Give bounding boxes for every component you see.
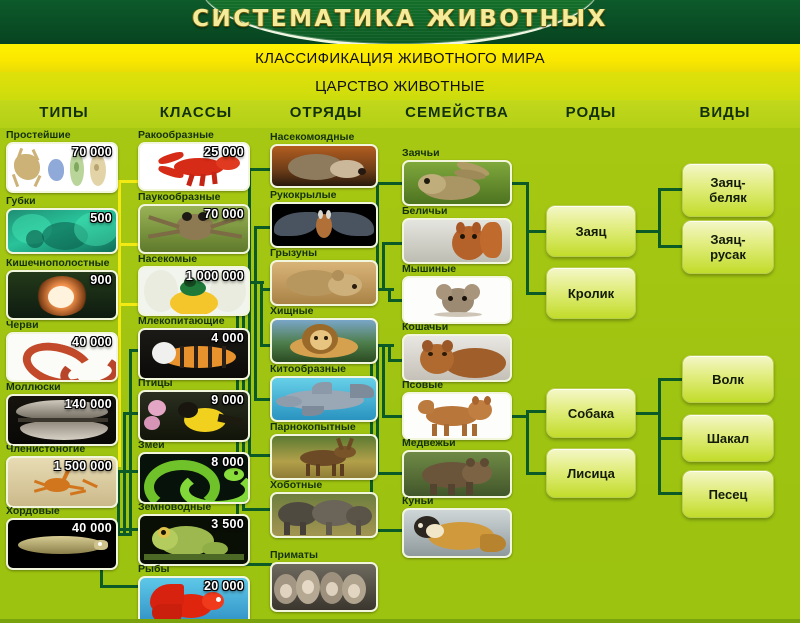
taxon-label-mice: Мышиные — [402, 264, 512, 275]
taxon-card-bears[interactable]: Медвежьи — [402, 438, 512, 498]
taxon-image-crustaceans: 25 000 — [138, 142, 250, 191]
subtitle-classification-band: КЛАССИФИКАЦИЯ ЖИВОТНОГО МИРА — [0, 44, 800, 72]
taxon-image-cats — [402, 334, 512, 382]
genus-box-dog[interactable]: Собака — [546, 388, 636, 438]
connector-families-trunk-carn-b — [382, 344, 385, 418]
connector-orders-trunk-5 — [254, 281, 257, 401]
taxon-label-carnivores: Хищные — [270, 306, 378, 317]
species-box-jackal[interactable]: Шакал — [682, 414, 774, 462]
taxon-label-molluscs: Моллюски — [6, 382, 118, 393]
taxon-label-fish: Рыбы — [138, 564, 250, 575]
taxon-card-crustaceans[interactable]: Ракообразные 25 000 — [138, 130, 250, 191]
taxon-label-sponges: Губки — [6, 196, 118, 207]
taxon-image-snakes: 8 000 — [138, 452, 250, 504]
taxon-count-birds: 9 000 — [211, 393, 244, 407]
taxon-label-bats: Рукокрылые — [270, 190, 378, 201]
taxon-image-primates — [270, 562, 378, 612]
taxon-count-insects: 1 000 000 — [186, 269, 244, 283]
taxon-image-carnivores — [270, 318, 378, 364]
taxon-card-insectivores[interactable]: Насекомоядные — [270, 132, 378, 188]
connector-chordates-to-fish — [100, 585, 143, 588]
genus-box-fox[interactable]: Лисица — [546, 448, 636, 498]
connector-species-jackal — [658, 437, 682, 440]
taxon-label-squirrels: Беличьи — [402, 206, 512, 217]
taxon-card-proboscideans[interactable]: Хоботные — [270, 480, 378, 538]
connector-family-mice — [388, 299, 402, 302]
taxon-image-mammals: 4 000 — [138, 328, 250, 380]
connector-genus-fox-in — [526, 472, 546, 475]
taxon-count-snakes: 8 000 — [211, 455, 244, 469]
connector-family-squirrels — [382, 242, 402, 245]
taxon-count-worms: 40 000 — [72, 335, 112, 349]
taxon-label-bears: Медвежьи — [402, 438, 512, 449]
taxon-card-dogs[interactable]: Псовые — [402, 380, 512, 440]
column-header-genera: РОДЫ — [528, 104, 654, 121]
taxon-count-arthropods: 1 500 000 — [54, 459, 112, 473]
taxon-label-artiodactyls: Парнокопытные — [270, 422, 378, 433]
taxon-count-chordates: 40 000 — [72, 521, 112, 535]
taxon-count-fish: 20 000 — [204, 579, 244, 593]
taxon-card-molluscs[interactable]: Моллюски 140 000 — [6, 382, 118, 446]
poster-bottom-edge — [0, 619, 800, 623]
taxon-label-mammals: Млекопитающие — [138, 316, 250, 327]
taxon-label-cats: Кошачьи — [402, 322, 512, 333]
taxon-count-coelenterates: 900 — [90, 273, 112, 287]
column-header-types: ТИПЫ — [0, 104, 128, 121]
taxon-image-proboscideans — [270, 492, 378, 538]
connector-genus-rabbit-trunk — [526, 182, 529, 295]
taxon-image-squirrels — [402, 218, 512, 264]
connector-family-hares — [376, 182, 402, 185]
taxon-card-sponges[interactable]: Губки 500 — [6, 196, 118, 254]
taxon-label-birds: Птицы — [138, 378, 250, 389]
taxon-image-arthropods: 1 500 000 — [6, 456, 118, 508]
taxon-image-dogs — [402, 392, 512, 440]
taxon-image-birds: 9 000 — [138, 390, 250, 442]
connector-orders-trunk-4 — [260, 281, 263, 347]
taxon-label-crustaceans: Ракообразные — [138, 130, 250, 141]
connector-family-cats — [388, 359, 402, 362]
taxon-image-insectivores — [270, 144, 378, 188]
taxon-label-proboscideans: Хоботные — [270, 480, 378, 491]
connector-genus-dog-in — [526, 410, 546, 413]
taxon-card-cetaceans[interactable]: Китообразные — [270, 364, 378, 422]
taxon-count-protozoa: 70 000 — [72, 145, 112, 159]
taxon-card-rodents[interactable]: Грызуны — [270, 248, 378, 306]
taxon-image-cetaceans — [270, 376, 378, 422]
taxon-card-coelenterates[interactable]: Кишечнополостные 900 — [6, 258, 118, 320]
column-header-species: ВИДЫ — [660, 104, 790, 121]
connector-species-wolf — [658, 378, 682, 381]
taxon-image-mustelids — [402, 508, 512, 558]
taxon-card-artiodactyls[interactable]: Парнокопытные — [270, 422, 378, 480]
connector-order-insectivores — [248, 168, 272, 171]
taxon-image-worms: 40 000 — [6, 332, 118, 382]
connector-genera-dog-trunk — [526, 410, 529, 474]
taxon-image-arachnids: 70 000 — [138, 204, 250, 254]
column-header-families: СЕМЕЙСТВА — [392, 104, 522, 121]
taxon-image-protozoa: 70 000 — [6, 142, 118, 193]
genus-box-hare[interactable]: Заяц — [546, 205, 636, 257]
connector-species-arctic-fox — [658, 492, 682, 495]
taxon-image-bats — [270, 202, 378, 248]
taxon-card-primates[interactable]: Приматы — [270, 550, 378, 612]
genus-box-rabbit[interactable]: Кролик — [546, 267, 636, 319]
taxon-card-birds[interactable]: Птицы 9 000 — [138, 378, 250, 442]
taxon-label-protozoa: Простейшие — [6, 130, 118, 141]
connector-family-dogs — [382, 415, 402, 418]
taxon-label-coelenterates: Кишечнополостные — [6, 258, 118, 269]
connector-species-mountain-hare — [658, 188, 682, 191]
taxon-label-rodents: Грызуны — [270, 248, 378, 259]
taxon-image-fish: 20 000 — [138, 576, 250, 623]
taxon-card-worms[interactable]: Черви 40 000 — [6, 320, 118, 382]
taxon-label-dogs: Псовые — [402, 380, 512, 391]
taxon-card-mammals[interactable]: Млекопитающие 4 000 — [138, 316, 250, 380]
subtitle-classification: КЛАССИФИКАЦИЯ ЖИВОТНОГО МИРА — [255, 50, 545, 67]
taxon-image-sponges: 500 — [6, 208, 118, 254]
connector-families-trunk-rodent-b — [382, 242, 385, 291]
species-box-wolf[interactable]: Волк — [682, 355, 774, 403]
taxon-card-mice[interactable]: Мышиные — [402, 264, 512, 324]
taxon-image-coelenterates: 900 — [6, 270, 118, 320]
species-box-brown-hare[interactable]: Заяц- русак — [682, 220, 774, 274]
taxon-image-chordates: 40 000 — [6, 518, 118, 570]
connector-arthropods-to-crustaceans — [118, 180, 140, 183]
taxon-count-sponges: 500 — [90, 211, 112, 225]
taxon-image-hares — [402, 160, 512, 206]
poster-title: СИСТЕМАТИКА ЖИВОТНЫХ — [0, 6, 800, 32]
connector-arthropods-trunk — [118, 180, 121, 466]
taxon-label-arthropods: Членистоногие — [6, 444, 118, 455]
taxon-card-carnivores[interactable]: Хищные — [270, 306, 378, 364]
taxon-card-fish[interactable]: Рыбы 20 000 — [138, 564, 250, 623]
connector-family-bears — [376, 472, 402, 475]
species-box-arctic-fox[interactable]: Песец — [682, 470, 774, 518]
connector-chordates-trunk-b — [123, 412, 126, 536]
taxon-label-snakes: Змеи — [138, 440, 250, 451]
taxon-label-chordates: Хордовые — [6, 506, 118, 517]
subtitle-kingdom-band: ЦАРСТВО ЖИВОТНЫЕ — [0, 72, 800, 100]
animal-systematics-poster: СИСТЕМАТИКА ЖИВОТНЫХ КЛАССИФИКАЦИЯ ЖИВОТ… — [0, 0, 800, 623]
taxon-card-insects[interactable]: Насекомые 1 000 000 — [138, 254, 250, 316]
taxon-label-primates: Приматы — [270, 550, 378, 561]
taxon-image-rodents — [270, 260, 378, 306]
connector-arthropods-to-insects — [118, 303, 140, 306]
subtitle-kingdom: ЦАРСТВО ЖИВОТНЫЕ — [315, 78, 485, 95]
taxon-label-insects: Насекомые — [138, 254, 250, 265]
taxon-card-snakes[interactable]: Змеи 8 000 — [138, 440, 250, 504]
taxon-card-hares[interactable]: Заячьи — [402, 148, 512, 206]
taxon-count-molluscs: 140 000 — [65, 397, 112, 411]
taxon-image-amphibians: 3 500 — [138, 514, 250, 566]
taxon-card-mustelids[interactable]: Куньи — [402, 496, 512, 558]
taxon-image-mice — [402, 276, 512, 324]
taxon-count-mammals: 4 000 — [211, 331, 244, 345]
column-header-orders: ОТРЯДЫ — [262, 104, 390, 121]
connector-genus-hare-in — [526, 230, 546, 233]
connector-genus-rabbit-in — [526, 292, 546, 295]
connector-arthropods-to-arachnids — [118, 243, 140, 246]
taxon-label-worms: Черви — [6, 320, 118, 331]
taxon-card-amphibians[interactable]: Земноводные 3 500 — [138, 502, 250, 566]
column-header-classes: КЛАССЫ — [132, 104, 260, 121]
taxon-card-arthropods[interactable]: Членистоногие 1 500 000 — [6, 444, 118, 508]
taxon-label-mustelids: Куньи — [402, 496, 512, 507]
taxon-label-arachnids: Паукообразные — [138, 192, 250, 203]
taxon-card-chordates[interactable]: Хордовые 40 000 — [6, 506, 118, 570]
species-box-mountain-hare[interactable]: Заяц- беляк — [682, 163, 774, 217]
taxon-image-artiodactyls — [270, 434, 378, 480]
taxon-count-amphibians: 3 500 — [211, 517, 244, 531]
taxon-card-arachnids[interactable]: Паукообразные 70 000 — [138, 192, 250, 254]
taxon-image-bears — [402, 450, 512, 498]
taxon-image-insects: 1 000 000 — [138, 266, 250, 316]
taxon-label-insectivores: Насекомоядные — [270, 132, 378, 143]
connector-hare-genus-out — [634, 230, 660, 233]
connector-species-brown-hare — [658, 245, 682, 248]
taxon-card-bats[interactable]: Рукокрылые — [270, 190, 378, 248]
taxon-label-cetaceans: Китообразные — [270, 364, 378, 375]
connector-order-artiodactyls — [248, 454, 272, 457]
connector-dog-genus-out — [634, 412, 660, 415]
taxon-label-amphibians: Земноводные — [138, 502, 250, 513]
connector-orders-trunk-2 — [254, 226, 257, 284]
taxon-count-crustaceans: 25 000 — [204, 145, 244, 159]
taxon-label-hares: Заячьи — [402, 148, 512, 159]
taxon-image-molluscs: 140 000 — [6, 394, 118, 446]
connector-chordates-trunk-a — [129, 349, 132, 536]
connector-hare-species-trunk — [658, 188, 661, 248]
taxon-card-squirrels[interactable]: Беличьи — [402, 206, 512, 264]
taxon-count-arachnids: 70 000 — [204, 207, 244, 221]
taxon-card-protozoa[interactable]: Простейшие 70 000 — [6, 130, 118, 193]
taxon-card-cats[interactable]: Кошачьи — [402, 322, 512, 382]
